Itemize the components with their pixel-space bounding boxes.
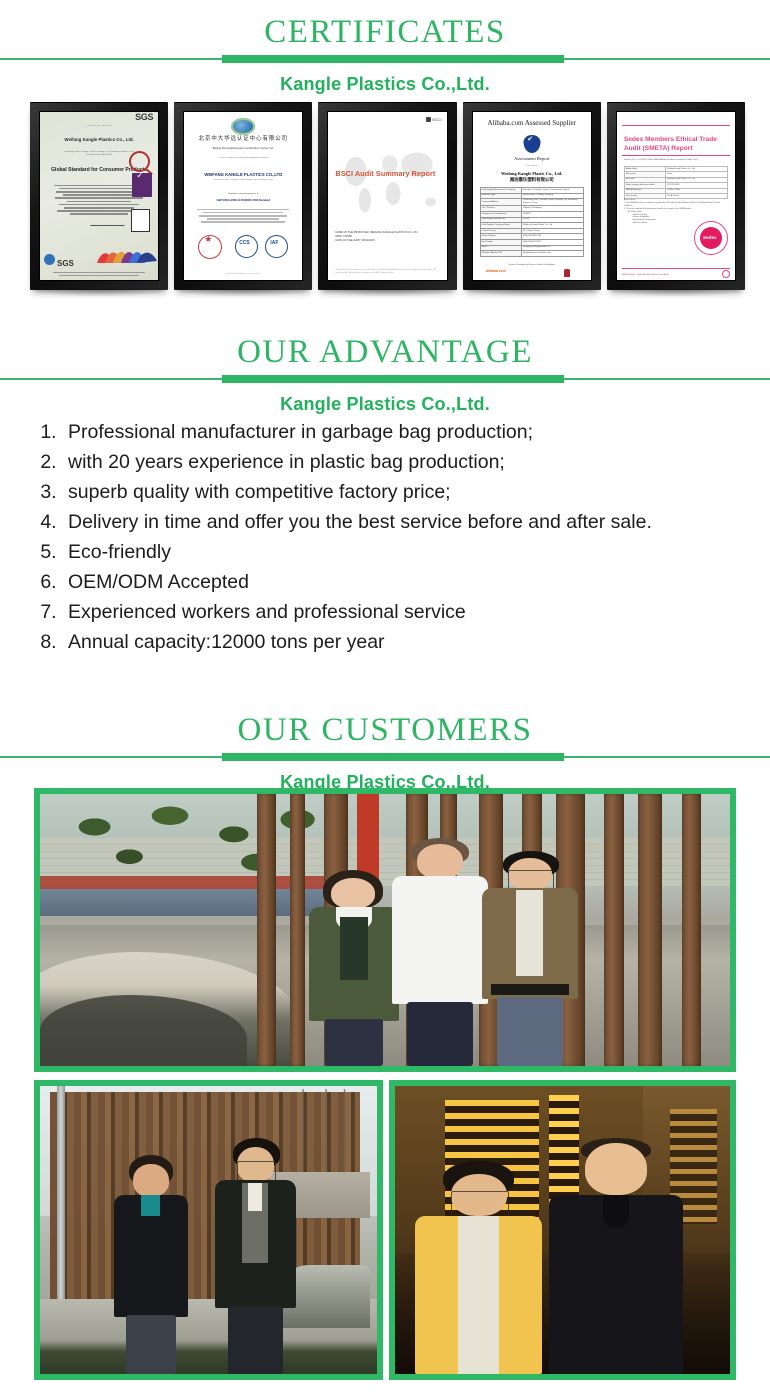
world-map-graphic — [331, 133, 443, 229]
certificate-company: WEIFANG KANGLE PLASTICS CO.,LTD — [183, 173, 303, 176]
table-row: Website / Alibaba URLkangleplastics.en.a… — [480, 251, 583, 257]
signature — [91, 211, 125, 226]
bsci-logo: BSCI — [426, 117, 441, 122]
header-divider — [0, 374, 770, 384]
picture-frame: 北京中大华远认证中心有限公司 Beijing Zhongdahuayuan Ce… — [174, 102, 312, 290]
certification-center-logo — [231, 118, 255, 135]
customer-photo-garden-three-people[interactable] — [34, 788, 736, 1072]
picture-frame: BSCI BSCI Audit Summary Report NAME OF T… — [318, 102, 456, 290]
ccs-mark-icon: CCS — [235, 235, 258, 258]
section-header-certificates: CERTIFICATES Kangle Plastics Co.,Ltd. — [0, 6, 770, 96]
advantage-item: Professional manufacturer in garbage bag… — [62, 418, 740, 448]
photo-content — [40, 794, 730, 1066]
alibaba-logo: Alibaba.com — [486, 270, 506, 273]
certificate-paper: BSCI BSCI Audit Summary Report NAME OF T… — [327, 111, 447, 281]
assessment-table: Gold Supplier Assessment CompanyIndividu… — [480, 187, 584, 257]
sgs-ribbon-graphic — [57, 245, 159, 267]
picture-frame: Sedex Members Ethical Trade Audit (SMETA… — [607, 102, 745, 290]
glasses-icon — [451, 1191, 509, 1219]
section-header-customers: OUR CUSTOMERS Kangle Plastics Co.,Ltd. — [0, 704, 770, 794]
issuer-name-english: Beijing Zhongdahuayuan Certification Cen… — [183, 146, 303, 150]
iaf-mark-icon: IAF — [265, 235, 288, 258]
issuer-name-chinese: 北京中大华远认证中心有限公司 — [183, 138, 303, 141]
advantage-item: Experienced workers and professional ser… — [62, 598, 740, 628]
advantage-item: Annual capacity:12000 tons per year — [62, 628, 740, 658]
certificate-paper: Alibaba.com Assessed Supplier Assessment… — [472, 111, 592, 281]
verified-shield-icon — [523, 135, 540, 153]
sedex-badge-logo — [694, 221, 728, 255]
advantage-item: OEM/ODM Accepted — [62, 568, 740, 598]
person-man-yellow-shirt — [415, 1161, 542, 1374]
report-title: BSCI Audit Summary Report — [335, 169, 439, 178]
advantage-item: Eco-friendly — [62, 538, 740, 568]
report-title: Sedex Members Ethical Trade Audit (SMETA… — [624, 135, 728, 153]
report-subtitle: Version 5.0 (Oct 2014) 4 Pillar SMETA Au… — [624, 159, 728, 162]
page-title-advantage: OUR ADVANTAGE — [0, 326, 770, 372]
title-underline — [622, 155, 730, 156]
certificate-body-text — [193, 207, 293, 225]
advantage-item: superb quality with competitive factory … — [62, 478, 740, 508]
footer-circle-icon — [722, 270, 730, 278]
report-footer: SMETA Report · Sedex Members Ethical Tra… — [622, 274, 730, 277]
certificate-company: Weifang Kangle Plastics Co., Ltd. — [39, 137, 159, 142]
restaurant-scene — [395, 1086, 730, 1374]
globe-icon — [44, 254, 55, 265]
certificate-alibaba-assessed-supplier[interactable]: Alibaba.com Assessed Supplier Assessment… — [463, 102, 601, 290]
picture-frame: Alibaba.com Assessed Supplier Assessment… — [463, 102, 601, 290]
log-wall-scene — [40, 1086, 377, 1374]
oeko-tex-mark-icon — [131, 209, 150, 232]
bureau-veritas-logo — [564, 269, 570, 277]
advantage-item: Delivery in time and offer you the best … — [62, 508, 740, 538]
company-name-advantage: Kangle Plastics Co.,Ltd. — [0, 384, 770, 416]
person-man-black-polo — [549, 1138, 683, 1374]
certificate-sedex-smeta[interactable]: Sedex Members Ethical Trade Audit (SMETA… — [607, 102, 745, 290]
person-man-brown-jacket — [482, 851, 579, 1066]
certificate-paper: 北京中大华远认证中心有限公司 Beijing Zhongdahuayuan Ce… — [183, 111, 303, 281]
product-detail-page: CERTIFICATES Kangle Plastics Co.,Ltd. SG… — [0, 0, 770, 1394]
certificate-paper: Sedex Members Ethical Trade Audit (SMETA… — [616, 111, 736, 281]
section-header-advantage: OUR ADVANTAGE Kangle Plastics Co.,Ltd. — [0, 326, 770, 416]
sgs-logo-text: SGS — [135, 116, 153, 119]
audit-table: Auditor BodyWeifang Kangle Plastics Co.,… — [624, 166, 728, 199]
advantage-list: Professional manufacturer in garbage bag… — [34, 418, 740, 658]
picture-frame: SGS Certificate No. 0000-0000 Weifang Ka… — [30, 102, 168, 290]
certificate-standard: GB/T19001-2008 idt ISO9001:2008 Standard — [189, 199, 297, 202]
footer-logos: Alibaba.com — [482, 269, 582, 277]
divider-thick-bar — [222, 753, 564, 761]
person-man-white-shirt — [392, 838, 489, 1066]
certificate-footer-note — [53, 271, 145, 278]
report-fine-print: This document is the property of the For… — [335, 269, 439, 275]
header-divider — [0, 752, 770, 762]
certificate-bsci[interactable]: BSCI BSCI Audit Summary Report NAME OF T… — [318, 102, 456, 290]
report-footer: Service Provided by Bureau Veritas Certi… — [480, 264, 584, 267]
report-meta: NAME OF THE PRODUCER: WEIFANG KANGLE PLA… — [335, 231, 439, 243]
customer-photo-garden-two-people[interactable] — [34, 1080, 383, 1380]
divider-thick-bar — [222, 375, 564, 383]
certificates-gallery: SGS Certificate No. 0000-0000 Weifang Ka… — [30, 102, 745, 292]
certificate-company: Weifang Kangle Plastic Co., Ltd.潍坊康乐塑料有限… — [472, 171, 592, 183]
header-divider — [0, 54, 770, 64]
divider-thick-bar — [222, 55, 564, 63]
certificate-paper: SGS Certificate No. 0000-0000 Weifang Ka… — [39, 111, 159, 281]
sgs-magnifier-icon — [129, 151, 150, 172]
person-man-dark-jacket — [215, 1138, 296, 1374]
page-title-certificates: CERTIFICATES — [0, 6, 770, 52]
advantage-item: with 20 years experience in plastic bag … — [62, 448, 740, 478]
page-title-customers: OUR CUSTOMERS — [0, 704, 770, 750]
footer-rule — [622, 268, 730, 269]
certificate-footer-note: Certification body address · www.ccsc.co… — [191, 273, 295, 276]
customer-photo-restaurant-two-men[interactable] — [389, 1080, 736, 1380]
report-title: Alibaba.com Assessed Supplier — [472, 122, 592, 125]
quality-mark-icon — [132, 173, 152, 197]
company-name-certificates: Kangle Plastics Co.,Ltd. — [0, 64, 770, 96]
garden-scene — [40, 794, 730, 1066]
photo-content — [40, 1086, 377, 1374]
person-woman-dark-coat — [114, 1155, 188, 1374]
red-star-seal-icon — [198, 235, 222, 259]
top-rule — [622, 125, 730, 126]
certificate-sgs[interactable]: SGS Certificate No. 0000-0000 Weifang Ka… — [30, 102, 168, 290]
certificate-iso9001[interactable]: 北京中大华远认证中心有限公司 Beijing Zhongdahuayuan Ce… — [174, 102, 312, 290]
table-row: Company AddressXiazhuang Town, Changle C… — [480, 199, 583, 206]
photo-content — [395, 1086, 730, 1374]
person-woman-green-cardigan — [309, 870, 399, 1066]
report-subtitle: Assessment Report — [472, 157, 592, 160]
